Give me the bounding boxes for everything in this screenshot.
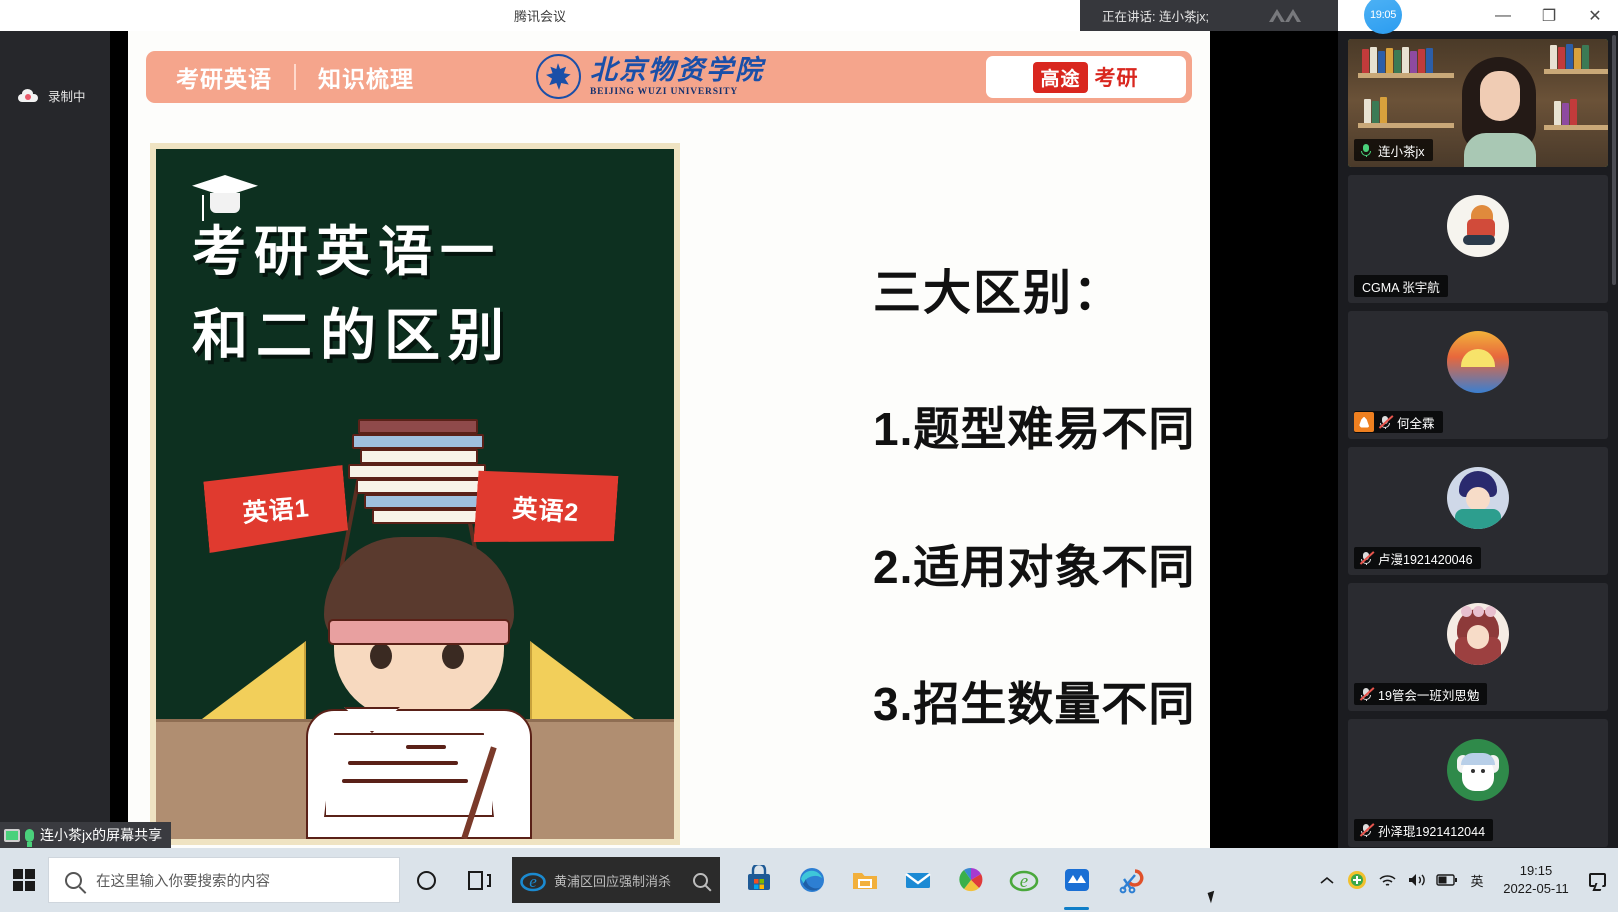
brand-text-label: 考研 [1095,62,1139,92]
meeting-titlebar: 腾讯会议 正在讲话: 连小茶jx; 19:05 — ❐ ✕ [0,0,1618,31]
letterbox-right [1210,31,1338,848]
slide-tag-topic: 知识梳理 [318,60,414,94]
task-view-icon [468,871,492,890]
taskbar-app-internet-explorer[interactable]: e [997,848,1050,912]
student-headband [328,619,510,645]
shared-screen-content: 考研英语 知识梳理 北京物资学院 BEIJING WUZI UNIVERSITY… [128,31,1210,848]
taskbar-app-snipping-tool[interactable] [1103,848,1156,912]
participant-name: CGMA 张宇航 [1362,277,1440,296]
microphone-muted-icon [1358,550,1374,566]
network-tray-button[interactable] [1372,848,1402,912]
taskbar-app-file-explorer[interactable] [838,848,891,912]
taskbar-app-mail[interactable] [891,848,944,912]
microphone-muted-icon [1358,686,1374,702]
participant-namebar: 孙泽琨1921412044 [1354,819,1493,841]
taskbar-clock[interactable]: 19:15 2022-05-11 [1492,848,1580,912]
participant-tile[interactable]: 19管会一班刘思勉 [1348,583,1608,711]
exam-paper [324,733,494,817]
avatar [1447,739,1509,801]
search-placeholder: 在这里输入你要搜索的内容 [96,870,270,891]
show-hidden-icons-button[interactable] [1312,848,1342,912]
antivirus-tray-button[interactable] [1342,848,1372,912]
university-name-cn: 北京物资学院 [590,57,764,84]
slide-point-2: 2.适用对象不同 [873,531,1195,597]
participant-name: 卢漫1921420046 [1378,549,1473,568]
recording-indicator[interactable]: 录制中 [0,75,110,115]
participant-namebar: CGMA 张宇航 [1354,275,1448,297]
speaking-label: 正在讲话: 连小茶jx; [1102,6,1209,25]
news-headline: 黄浦区回应强制消杀 [554,871,671,890]
search-icon [65,872,82,889]
window-controls: 19:05 — ❐ ✕ [1338,0,1618,31]
university-logo: 北京物资学院 BEIJING WUZI UNIVERSITY [536,54,764,99]
notification-icon [1589,873,1606,887]
chalkboard-surface: 考研英语一 和二的区别 英语1 英语2 [156,149,674,839]
task-view-button[interactable] [453,848,506,912]
svg-text:e: e [1019,871,1027,892]
slide-tag-divider [294,64,296,90]
internet-explorer-icon: e [520,867,546,893]
avatar [1447,195,1509,257]
taskbar-app-photos[interactable] [944,848,997,912]
slide-point-3: 3.招生数量不同 [873,668,1195,734]
screen: 腾讯会议 正在讲话: 连小茶jx; 19:05 — ❐ ✕ 录制中 考研 [0,0,1618,912]
participant-name: 孙泽琨1921412044 [1378,821,1485,840]
taskbar-app-list: e [732,848,1156,912]
participant-namebar: 何全霖 [1354,411,1443,433]
brand-logo: 高途 考研 [986,56,1186,98]
letterbox-left [110,31,128,848]
participant-namebar: 19管会一班刘思勉 [1354,683,1487,705]
start-button[interactable] [0,848,48,912]
recording-label: 录制中 [48,86,86,105]
photos-icon [956,865,986,895]
microphone-muted-icon [1358,822,1374,838]
participants-panel[interactable]: 连小茶jx CGMA 张宇航 何全霖 [1338,31,1618,848]
flag-english-two: 英语2 [474,466,619,552]
mail-icon [903,865,933,895]
microsoft-store-icon [744,865,774,895]
chevron-up-icon [1320,876,1334,885]
graduation-cap-icon [192,175,258,215]
app-title: 腾讯会议 [0,0,1080,31]
participants-scrollbar-thumb[interactable] [1612,35,1616,285]
participant-tile[interactable]: 何全霖 [1348,311,1608,439]
speaking-indicator: 正在讲话: 连小茶jx; [1080,0,1338,31]
titlebar-left-region: 腾讯会议 [0,0,1080,31]
battery-tray-button[interactable] [1432,848,1462,912]
tencent-meeting-icon [1062,865,1092,895]
taskbar-app-microsoft-edge[interactable] [785,848,838,912]
poster-title-line2: 和二的区别 [192,309,512,365]
close-button[interactable]: ✕ [1572,0,1618,31]
participant-video-person [1462,57,1536,167]
file-explorer-icon [850,865,880,895]
screen-share-notice: 连小茶jx的屏幕共享 [0,822,171,848]
participant-namebar: 卢漫1921420046 [1354,547,1481,569]
participant-tile[interactable]: CGMA 张宇航 [1348,175,1608,303]
university-name-block: 北京物资学院 BEIJING WUZI UNIVERSITY [590,57,764,97]
wifi-icon [1378,873,1397,888]
speaker-icon [1407,872,1427,888]
antivirus-shield-icon [1347,870,1367,890]
participant-tile[interactable]: 卢漫1921420046 [1348,447,1608,575]
action-center-button[interactable] [1580,848,1614,912]
maximize-button[interactable]: ❐ [1526,0,1572,31]
slide-main-title: 三大区别： [873,253,1123,323]
participant-name: 何全霖 [1397,413,1435,432]
microphone-active-icon [25,829,34,842]
tencent-meeting-logo-icon [1266,7,1312,24]
search-input[interactable]: 在这里输入你要搜索的内容 [48,857,400,903]
participant-tile[interactable]: 连小茶jx [1348,39,1608,167]
university-name-en: BEIJING WUZI UNIVERSITY [590,87,764,97]
flag-english-one: 英语1 [203,465,349,553]
avatar [1447,331,1509,393]
host-badge-icon [1354,412,1374,432]
left-toolbar-strip: 录制中 [0,31,110,848]
news-and-interests-widget[interactable]: e 黄浦区回应强制消杀 [512,857,720,903]
microsoft-edge-icon [797,865,827,895]
participant-tile[interactable]: 孙泽琨1921412044 [1348,719,1608,847]
screen-share-icon [4,829,20,842]
snipping-tool-icon [1115,865,1145,895]
university-seal-icon [536,54,581,99]
microphone-on-icon [1358,142,1374,158]
avatar [1447,467,1509,529]
participant-name: 连小茶jx [1378,141,1425,160]
clock-date: 2022-05-11 [1503,880,1569,898]
participant-namebar: 连小茶jx [1354,139,1433,161]
slide-point-1: 1.题型难易不同 [873,393,1195,459]
battery-icon [1436,874,1458,886]
avatar [1447,603,1509,665]
taskbar-app-microsoft-store[interactable] [732,848,785,912]
chalkboard-poster: 考研英语一 和二的区别 英语1 英语2 [150,143,680,845]
news-search-icon[interactable] [693,873,708,888]
brand-box-label: 高途 [1033,62,1087,93]
participant-name: 19管会一班刘思勉 [1378,685,1479,704]
slide-header-bar: 考研英语 知识梳理 北京物资学院 BEIJING WUZI UNIVERSITY… [146,51,1192,103]
minimize-button[interactable]: — [1480,0,1526,31]
meeting-timer-badge: 19:05 [1364,0,1402,34]
clock-time: 19:15 [1520,862,1553,880]
slide-tag-subject: 考研英语 [176,60,272,94]
volume-tray-button[interactable] [1402,848,1432,912]
taskbar-app-tencent-meeting[interactable] [1050,848,1103,912]
screen-share-label: 连小茶jx的屏幕共享 [40,825,162,845]
cortana-icon [417,871,436,890]
microphone-muted-icon [1377,414,1393,430]
internet-explorer-icon: e [1009,865,1039,895]
windows-taskbar: 在这里输入你要搜索的内容 e 黄浦区回应强制消杀 [0,848,1618,912]
windows-logo-icon [13,869,35,891]
cloud-recording-icon [18,88,38,102]
poster-title-line1: 考研英语一 [192,225,502,279]
system-tray: 英 19:15 2022-05-11 [1312,848,1618,912]
cortana-button[interactable] [400,848,453,912]
svg-text:e: e [529,872,537,891]
ime-indicator[interactable]: 英 [1462,848,1492,912]
